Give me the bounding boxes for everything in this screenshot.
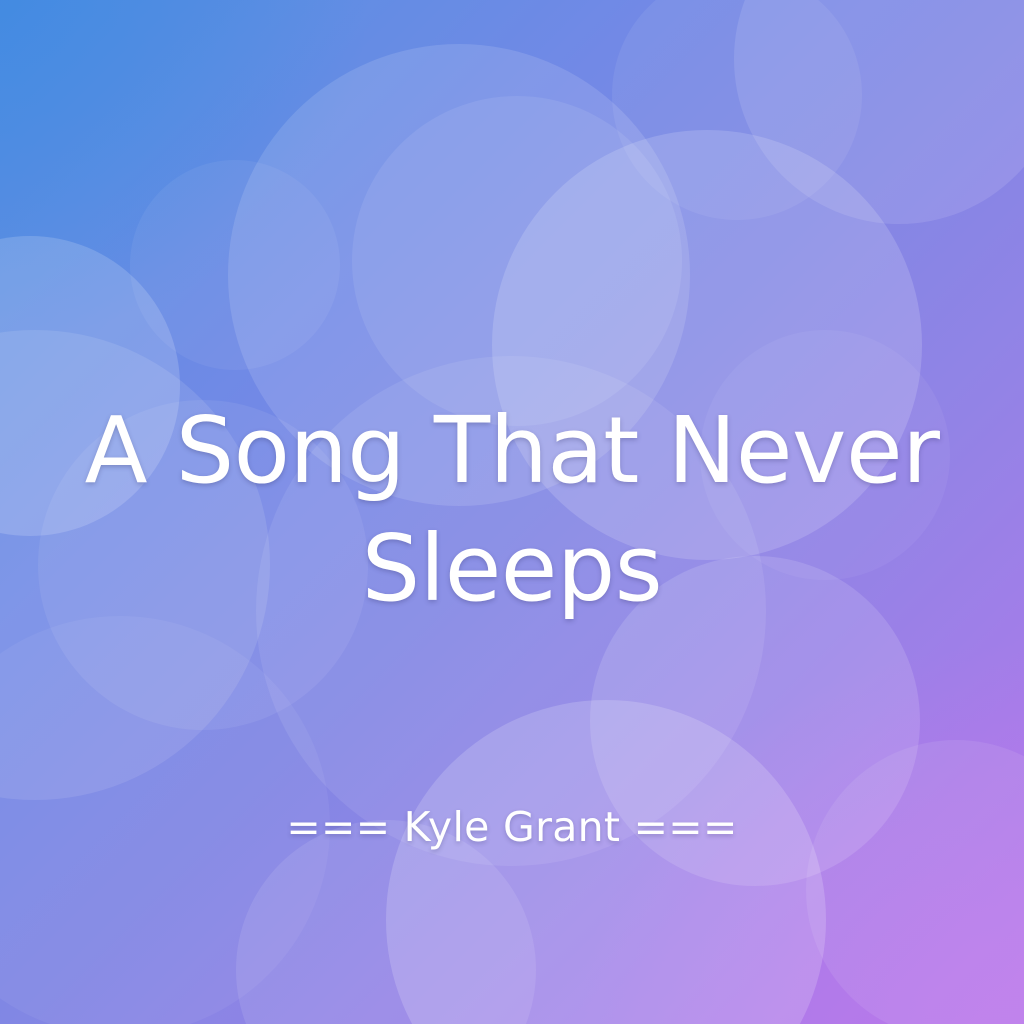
album-title: A Song That Never Sleeps xyxy=(0,392,1024,628)
cover-text-content: A Song That Never Sleeps === Kyle Grant … xyxy=(0,0,1024,1024)
album-cover-canvas: A Song That Never Sleeps === Kyle Grant … xyxy=(0,0,1024,1024)
artist-credit: === Kyle Grant === xyxy=(0,803,1024,851)
